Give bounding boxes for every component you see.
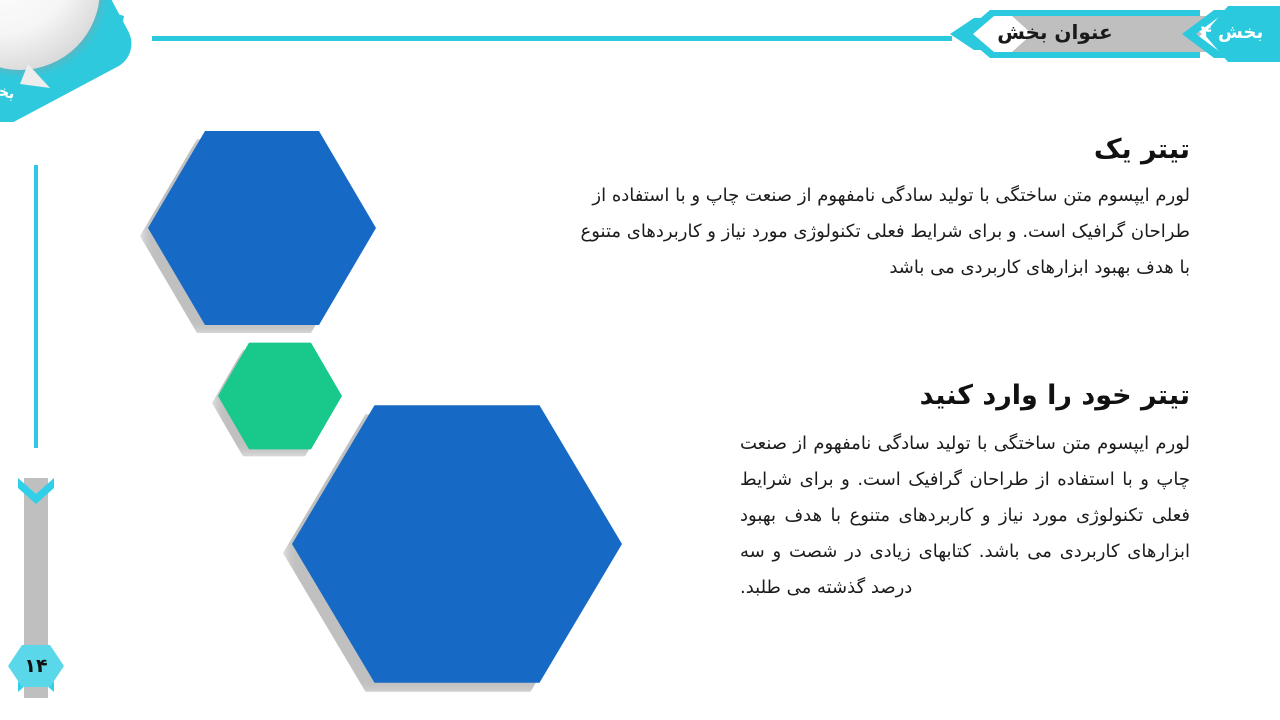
section-title: عنوان بخش [970,19,1140,45]
page-number-text: ۱۴ [8,645,64,687]
wheel-center-sphere [0,0,100,70]
content-block-two-body: لورم ایپسوم متن ساختگی با تولید سادگی نا… [740,426,1190,606]
wheel-arc-body [0,0,141,122]
wheel-arc-active [0,4,124,102]
content-block-one: تیتر یک لورم ایپسوم متن ساختگی با تولید … [578,132,1190,286]
chevron-down-icon [18,478,54,504]
slide-canvas: بخش ۴ عنوان بخش بخش ۴ [0,0,1280,720]
content-block-two-heading: تیتر خود را وارد کنید [740,378,1190,414]
wheel-pointer-notch [20,64,50,88]
header-rule [152,36,952,41]
wheel-arc-label: بخش ۴ [0,0,16,103]
decorative-wheel-graphic: بخش ۴ [0,0,154,122]
section-header-banner: عنوان بخش بخش ۴ [928,6,1280,62]
left-rail-line [34,165,38,448]
content-block-two: تیتر خود را وارد کنید لورم ایپسوم متن سا… [740,378,1190,606]
wheel-arc-label-text: بخش ۴ [0,0,16,103]
section-number-label: بخش ۴ [1192,20,1272,46]
content-block-one-body: لورم ایپسوم متن ساختگی با تولید سادگی نا… [578,178,1190,286]
page-number-badge: ۱۴ [8,645,64,687]
content-block-one-heading: تیتر یک [578,132,1190,168]
